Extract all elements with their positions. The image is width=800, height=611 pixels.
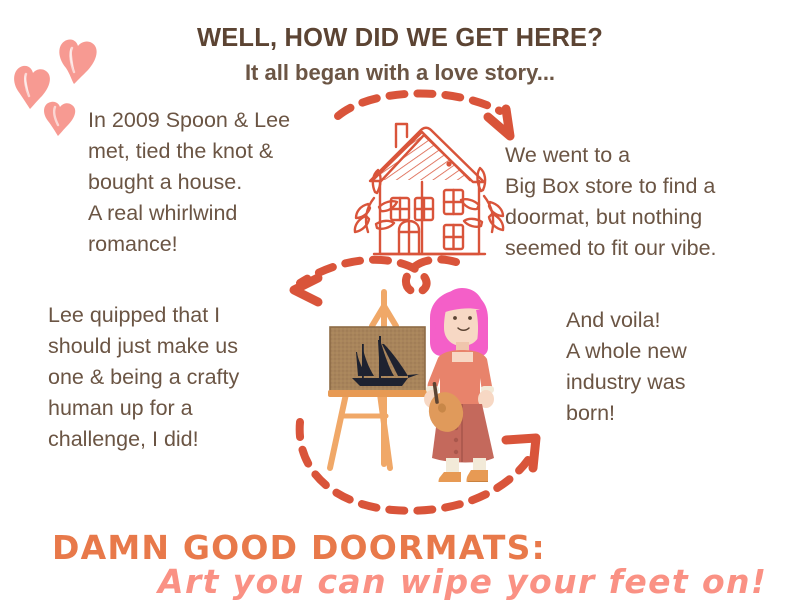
arrow-bottom-icon <box>288 418 553 520</box>
story-panel-top-left: In 2009 Spoon & Lee met, tied the knot &… <box>88 105 350 260</box>
story-panel-bottom-left: Lee quipped that I should just make us o… <box>48 300 323 455</box>
arrow-top-icon <box>330 83 535 145</box>
page-subheadline: It all began with a love story... <box>0 60 800 86</box>
page-headline: WELL, HOW DID WE GET HERE? <box>0 24 800 53</box>
artist-painting-icon <box>322 282 522 482</box>
brand-tagline: Art you can wipe your feet on! <box>158 562 767 601</box>
story-infographic: WELL, HOW DID WE GET HERE? It all began … <box>0 0 800 611</box>
story-panel-top-right: We went to a Big Box store to find a doo… <box>505 140 795 264</box>
story-panel-bottom-right: And voila! A whole new industry was born… <box>566 305 791 429</box>
house-icon <box>352 108 510 263</box>
